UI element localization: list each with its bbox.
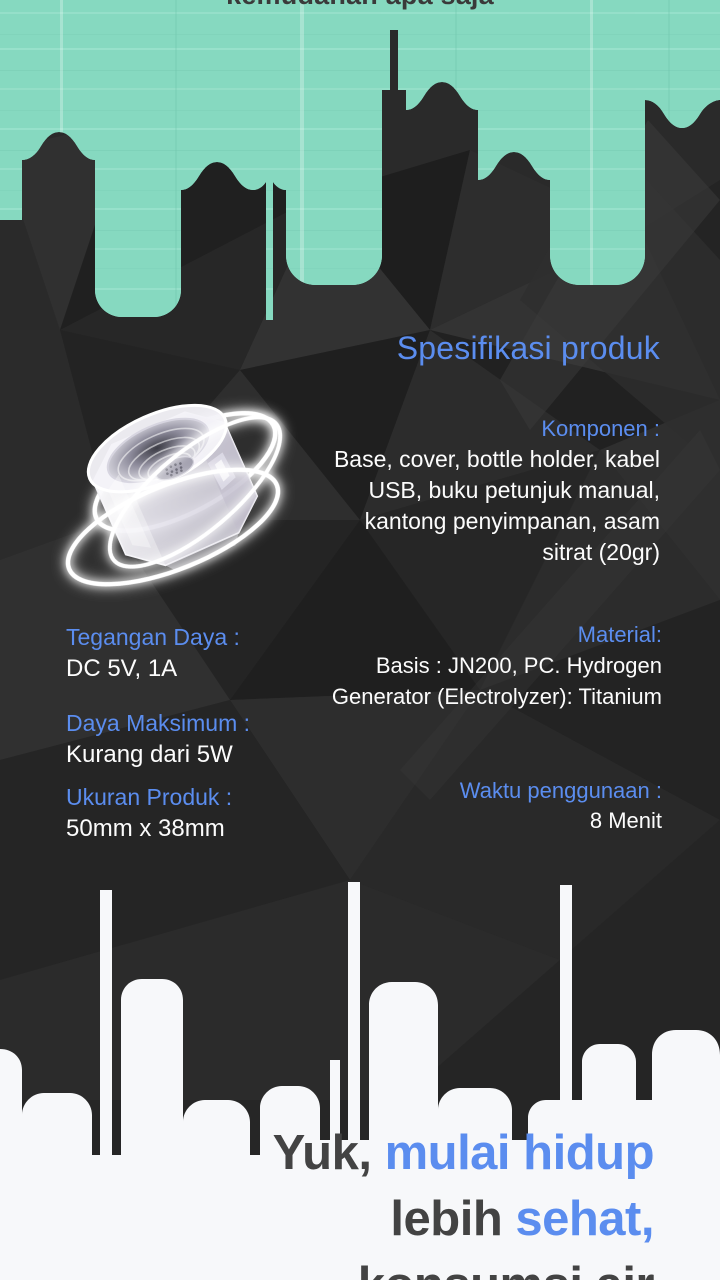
spec-label-ukuran-produk: Ukuran Produk :	[66, 782, 366, 812]
tagline-line2-highlight: sehat,	[515, 1192, 654, 1246]
page-title-spesifikasi: Spesifikasi produk	[315, 330, 660, 367]
spec-block-tegangan: Tegangan Daya : DC 5V, 1A	[66, 622, 366, 685]
tagline-line1-plain: Yuk,	[273, 1126, 385, 1180]
tagline-line-3-cutoff: konsumsi air	[0, 1252, 654, 1280]
spec-value-tegangan: DC 5V, 1A	[66, 652, 366, 685]
spec-label-tegangan: Tegangan Daya :	[66, 622, 366, 652]
spec-value-komponen: Base, cover, bottle holder, kabel USB, b…	[315, 444, 660, 568]
tagline-line1-highlight: mulai hidup	[385, 1126, 654, 1180]
tagline-line-1: Yuk, mulai hidup	[0, 1120, 654, 1186]
spec-value-daya-maksimum: Kurang dari 5W	[66, 738, 366, 771]
top-cutoff-headline: kemudahan apa saja	[0, 0, 720, 11]
spec-label-komponen: Komponen :	[315, 414, 660, 444]
spec-value-ukuran-produk: 50mm x 38mm	[66, 812, 366, 845]
product-image-hydrogen-generator	[45, 352, 320, 627]
spec-block-ukuran-produk: Ukuran Produk : 50mm x 38mm	[66, 782, 366, 845]
tagline-line-2: lebih sehat,	[0, 1186, 654, 1252]
spec-block-komponen: Komponen : Base, cover, bottle holder, k…	[315, 414, 660, 568]
infographic-poster: kemudahan apa saja	[0, 0, 720, 1280]
tagline-line2-plain: lebih	[390, 1192, 515, 1246]
bottom-tagline: Yuk, mulai hidup lebih sehat, konsumsi a…	[0, 1120, 720, 1280]
spec-block-daya-maksimum: Daya Maksimum : Kurang dari 5W	[66, 708, 366, 771]
spec-label-daya-maksimum: Daya Maksimum :	[66, 708, 366, 738]
mint-drip-band	[0, 0, 720, 320]
